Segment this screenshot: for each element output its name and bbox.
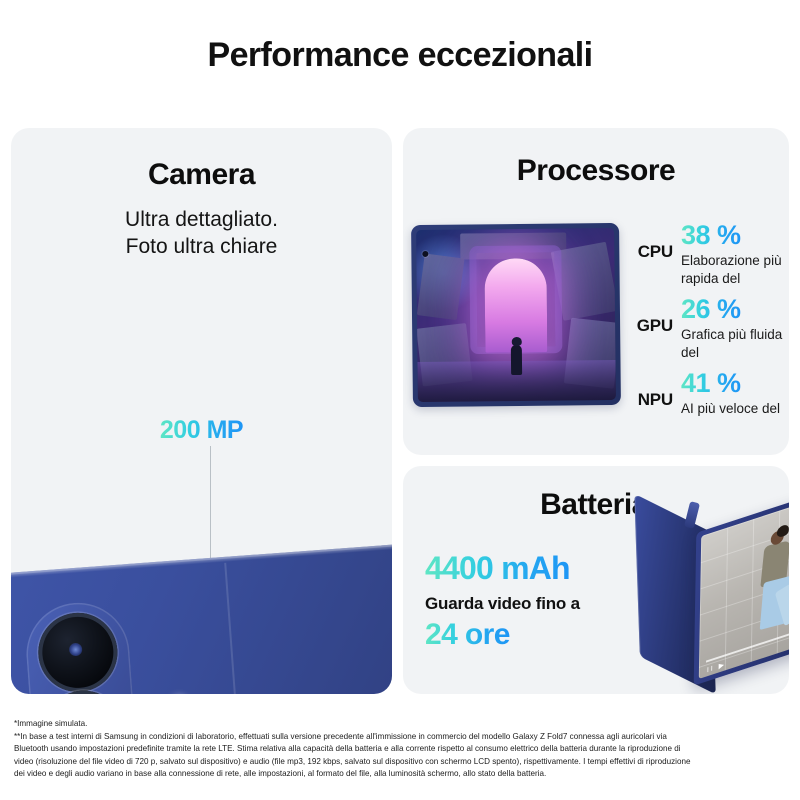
footnote-line-2: **In base a test interni di Samsung in c… [14, 731, 792, 744]
camera-card: Camera Ultra dettagliato. Foto ultra chi… [11, 128, 392, 694]
stat-value-npu: 41 % [681, 368, 741, 399]
lens-glint-icon [69, 643, 83, 657]
battery-card: Batteria 4400 mAh Guarda video fino a 24… [403, 466, 789, 694]
stat-key-cpu: CPU [621, 242, 673, 262]
promo-page: Performance eccezionali Camera Ultra det… [0, 0, 800, 800]
camera-megapixel-value: 200 MP [160, 416, 243, 445]
game-character-head [511, 337, 521, 346]
footnote-line-3: Bluetooth usando impostazioni predefinit… [14, 743, 792, 756]
stat-key-gpu: GPU [621, 316, 673, 336]
game-character [511, 345, 522, 375]
tablet-device-image [411, 223, 621, 407]
stat-desc-gpu: Grafica più fluida del [681, 326, 789, 361]
foldable-tent-device-image: II ▶ [625, 488, 789, 694]
camera-megapixel-label: 200 MP [11, 416, 392, 445]
stat-key-npu: NPU [621, 390, 673, 410]
page-title: Performance eccezionali [0, 36, 800, 75]
tablet-front-camera-icon [422, 251, 428, 257]
battery-capacity-value: 4400 mAh [425, 550, 570, 587]
stat-row-npu: NPU 41 % AI più veloce del [621, 368, 789, 442]
footnote-line-1: *Immagine simulata. [14, 718, 792, 731]
camera-island [23, 599, 144, 694]
processor-card-title: Processore [403, 154, 789, 188]
stat-row-gpu: GPU 26 % Grafica più fluida del [621, 294, 789, 368]
phone-back-image [11, 543, 392, 694]
stat-desc-cpu: Elaborazione più rapida del [681, 252, 789, 287]
footnote-line-5: dei video e degli audio variano in base … [14, 768, 792, 781]
phone-top-edge [11, 543, 392, 579]
processor-stats-list: CPU 38 % Elaborazione più rapida del GPU… [621, 220, 789, 442]
stat-desc-npu: AI più veloce del [681, 400, 789, 418]
battery-hours-value: 24 ore [425, 618, 510, 652]
camera-subtitle-line1: Ultra dettagliato. [125, 208, 278, 231]
battery-subtitle: Guarda video fino a [425, 594, 580, 614]
camera-subtitle: Ultra dettagliato. Foto ultra chiare [11, 206, 392, 261]
video-screen: II ▶ [699, 493, 789, 679]
stat-row-cpu: CPU 38 % Elaborazione più rapida del [621, 220, 789, 294]
camera-card-title: Camera [11, 158, 392, 192]
foldable-right-panel: II ▶ [694, 486, 789, 685]
processor-card: Processore CPU 38 % Elaborazione più rap… [403, 128, 789, 455]
tablet-screen [416, 228, 616, 402]
camera-lens-1 [36, 610, 121, 694]
footnote-line-4: video (risoluzione del file video di 720… [14, 756, 792, 769]
camera-subtitle-line2: Foto ultra chiare [126, 235, 278, 258]
phone-fold-seam [224, 563, 252, 694]
footnotes: *Immagine simulata. **In base a test int… [14, 718, 792, 781]
game-rock [417, 253, 465, 320]
stat-value-cpu: 38 % [681, 220, 741, 251]
stat-value-gpu: 26 % [681, 294, 741, 325]
